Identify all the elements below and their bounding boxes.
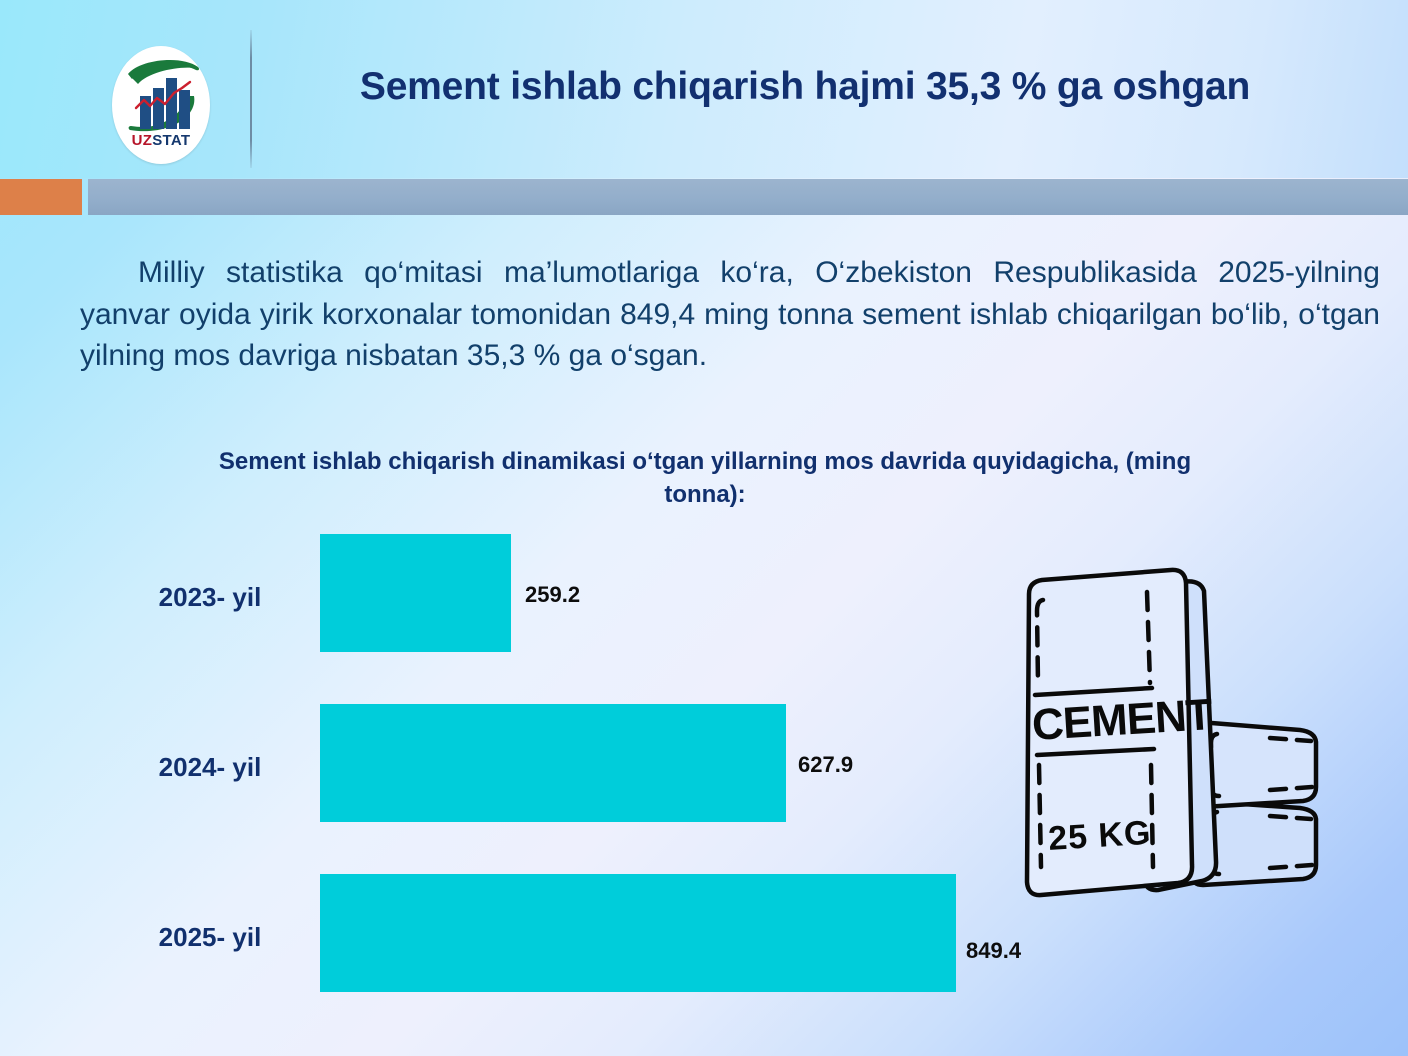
logo-word-stat: STAT [152, 132, 190, 149]
bar-category-label: 2024- yil [120, 752, 300, 783]
logo-wordmark: UZSTAT [112, 132, 210, 149]
chart-title: Sement ishlab chiqarish dinamikasi o‘tga… [190, 446, 1220, 511]
bar-rect-2023[interactable] [320, 534, 511, 652]
bag-label-weight: 25 KG [1047, 814, 1152, 858]
infographic-slide: UZSTAT Sement ishlab chiqarish hajmi 35,… [0, 0, 1408, 1056]
header-band: UZSTAT Sement ishlab chiqarish hajmi 35,… [0, 0, 1408, 178]
header-divider [250, 30, 252, 168]
bar-category-label: 2025- yil [120, 922, 300, 953]
cement-bags-icon: CEMENT 25 KG [985, 565, 1350, 910]
accent-stripe-orange [0, 179, 82, 215]
body-paragraph: Milliy statistika qo‘mitasi ma’lumotlari… [80, 252, 1380, 377]
uzstat-logo: UZSTAT [112, 46, 210, 166]
page-title: Sement ishlab chiqarish hajmi 35,3 % ga … [300, 62, 1310, 112]
accent-stripe-gray [88, 179, 1408, 215]
bar-rect-2024[interactable] [320, 704, 786, 822]
bar-value-label: 627.9 [798, 752, 853, 778]
bar-value-label: 259.2 [525, 582, 580, 608]
bar-rect-2025[interactable] [320, 874, 956, 992]
bar-category-label: 2023- yil [120, 582, 300, 613]
cement-bag-illustration: CEMENT 25 KG [985, 565, 1350, 910]
bar-value-label: 849.4 [966, 938, 1021, 964]
logo-word-uz: UZ [132, 132, 153, 149]
